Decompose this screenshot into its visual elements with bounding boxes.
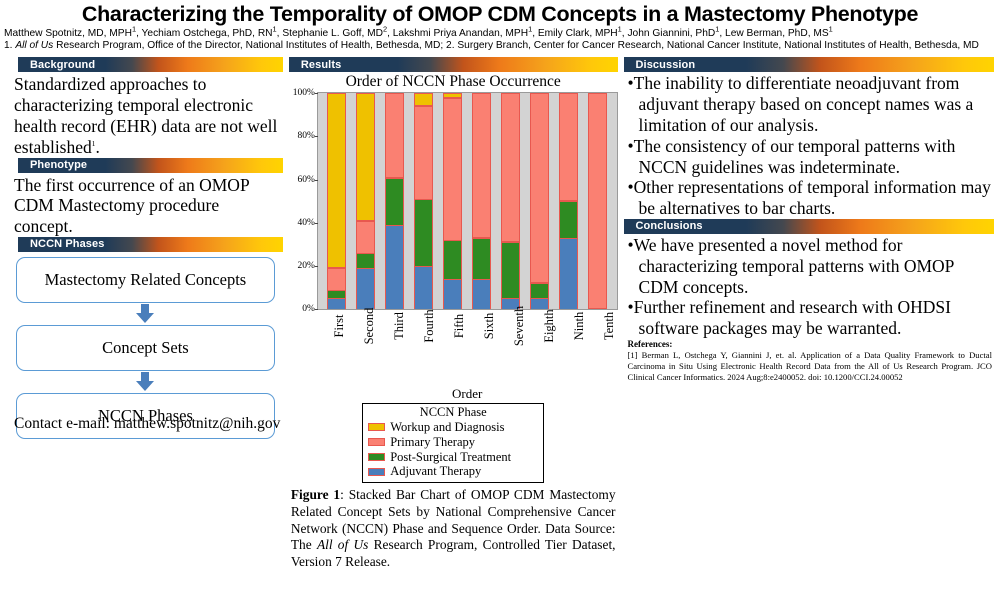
bar-segment [414,266,433,309]
section-header-phenotype: Phenotype [18,158,283,173]
legend-item: Primary Therapy [368,435,538,450]
x-axis-tick-label: Second [352,324,371,392]
section-title-background: Background [18,59,95,71]
bar-segment [443,98,462,241]
figure-caption: Figure 1: Stacked Bar Chart of OMOP CDM … [289,483,618,571]
bar-segment [356,268,375,309]
y-axis-tick-label: 80% [297,131,314,141]
flow-step-1: Mastectomy Related Concepts [16,257,275,303]
chart-legend: NCCN Phase Workup and DiagnosisPrimary T… [362,403,544,483]
bar-segment [501,242,520,298]
bullet-item: •Other representations of temporal infor… [628,177,992,219]
y-axis-tick-label: 60% [297,175,314,185]
stacked-bar-chart: 0%20%40%60%80%100% [317,92,618,310]
legend-item: Post-Surgical Treatment [368,450,538,465]
bar-segment [385,93,404,177]
y-axis-tick-label: 0% [302,304,315,314]
stacked-bar [530,93,549,309]
y-axis-tick-label: 20% [297,261,314,271]
bullet-item: •The inability to differentiate neoadjuv… [628,73,992,135]
x-axis-tick-label: Fifth [443,324,462,392]
bar-segment [385,178,404,226]
x-axis-tick-labels: FirstSecondThirdFourthFifthSixthSeventhE… [289,324,618,392]
stacked-bar [559,93,578,309]
bar-segment [443,240,462,279]
section-header-background: Background [18,57,283,72]
legend-item: Workup and Diagnosis [368,420,538,435]
bar-segment [327,268,346,290]
stacked-bar [501,93,520,309]
affiliation-list: 1. All of Us Research Program, Office of… [0,40,1000,53]
bar-segment [530,93,549,283]
section-header-discussion: Discussion [624,57,994,72]
x-axis-tick-label: Ninth [563,324,582,392]
section-title-phenotype: Phenotype [18,159,87,171]
x-axis-tick-label: Tenth [593,324,612,392]
bar-segment [443,279,462,309]
bar-segment [327,93,346,268]
bullet-item: •The consistency of our temporal pattern… [628,136,992,178]
chart-plot-wrap: 0%20%40%60%80%100% [289,92,618,324]
y-axis-tick-label: 40% [297,218,314,228]
contact-email: Contact e-mail: matthew.spotnitz@nih.gov [14,415,280,433]
conclusions-bullet-list: •We have presented a novel method for ch… [624,235,994,339]
section-header-nccn-phases: NCCN Phases [18,237,283,252]
bar-segment [356,253,375,268]
flow-arrow-2-icon [16,371,275,393]
bar-segment [530,283,549,298]
section-title-results: Results [289,59,341,71]
bar-segment [472,93,491,238]
bar-segment [385,225,404,309]
bar-segment [588,93,607,309]
nccn-flowchart: Mastectomy Related Concepts Concept Sets… [6,253,283,439]
legend-swatch [368,453,385,461]
x-axis-tick-label: Third [383,324,402,392]
bar-segment [327,290,346,299]
legend-item: Adjuvant Therapy [368,464,538,479]
legend-label: Post-Surgical Treatment [390,450,511,465]
bullet-item: •Further refinement and research with OH… [628,297,992,339]
bar-segment [472,238,491,279]
legend-label: Workup and Diagnosis [390,420,504,435]
bar-segment [327,298,346,309]
bar-segment [559,238,578,309]
legend-title: NCCN Phase [368,406,538,420]
bar-segment [356,93,375,220]
phenotype-text: The first occurrence of an OMOP CDM Mast… [6,174,283,237]
flow-arrow-1-icon [16,303,275,325]
references-title: References: [628,339,992,350]
stacked-bar [472,93,491,309]
bullet-item: •We have presented a novel method for ch… [628,235,992,297]
x-axis-tick-label: First [322,324,341,392]
y-axis-tick-label: 100% [293,88,315,98]
chart-title: Order of NCCN Phase Occurrence [289,73,618,91]
bar-segment [356,221,375,253]
stacked-bar [588,93,607,309]
discussion-bullet-list: •The inability to differentiate neoadjuv… [624,73,994,219]
x-axis-tick-label: Seventh [503,324,522,392]
section-title-conclusions: Conclusions [624,220,703,232]
legend-swatch [368,438,385,446]
author-list: Matthew Spotnitz, MD, MPH1, Yechiam Ostc… [0,28,1000,41]
left-column: Background Standardized approaches to ch… [6,57,283,439]
bar-segment [559,201,578,238]
legend-label: Primary Therapy [390,435,475,450]
stacked-bar [414,93,433,309]
poster-columns: Background Standardized approaches to ch… [0,53,1000,573]
section-title-nccn-phases: NCCN Phases [18,238,104,250]
background-text: Standardized approaches to characterizin… [6,73,283,157]
x-axis-tick-label: Sixth [473,324,492,392]
section-title-discussion: Discussion [624,59,696,71]
page-title: Characterizing the Temporality of OMOP C… [0,0,1000,28]
right-column: Discussion •The inability to differentia… [624,57,994,339]
bar-segment [559,93,578,201]
section-header-results: Results [289,57,618,72]
bar-segment [414,199,433,266]
section-header-conclusions: Conclusions [624,219,994,234]
stacked-bar [443,93,462,309]
stacked-bar [356,93,375,309]
stacked-bar [385,93,404,309]
legend-label: Adjuvant Therapy [390,464,481,479]
bar-segment [501,93,520,242]
center-column: Results Order of NCCN Phase Occurrence 0… [289,57,618,571]
legend-swatch [368,423,385,431]
bar-segment [530,298,549,309]
legend-swatch [368,468,385,476]
references-text: [1] Berman L, Ostchega Y, Giannini J, et… [628,350,992,383]
flow-step-2: Concept Sets [16,325,275,371]
bar-segment [414,93,433,106]
bar-segment [414,106,433,199]
references-block: References: [1] Berman L, Ostchega Y, Gi… [628,339,992,383]
x-axis-tick-label: Eighth [533,324,552,392]
bar-segment [472,279,491,309]
x-axis-tick-label: Fourth [413,324,432,392]
stacked-bar [327,93,346,309]
